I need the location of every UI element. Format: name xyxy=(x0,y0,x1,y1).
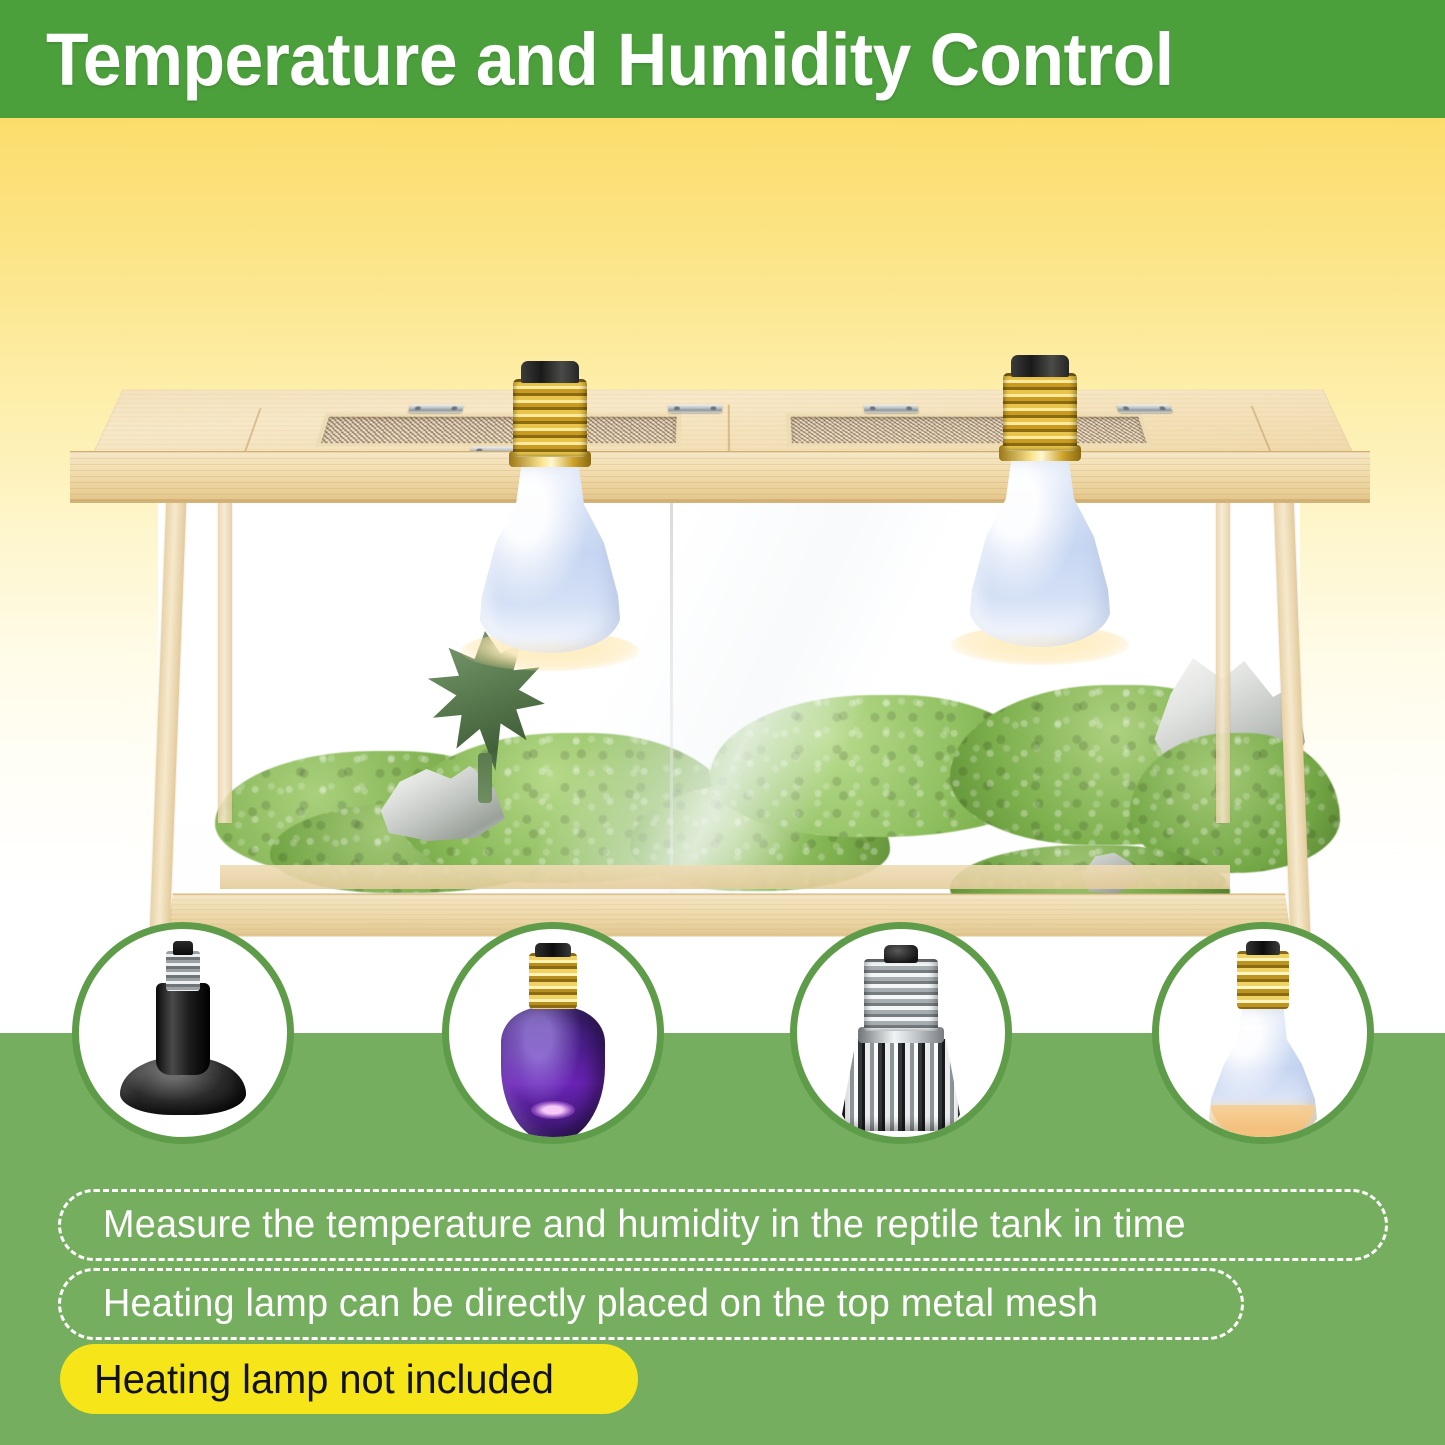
bulb-contact-cap xyxy=(521,361,579,383)
bulb-screw-base xyxy=(1003,373,1077,451)
notice-badge-lamp-not-included: Heating lamp not included xyxy=(60,1344,638,1414)
bulb-screw-base xyxy=(1237,951,1289,1009)
feature-callout-measure: Measure the temperature and humidity in … xyxy=(58,1189,1388,1261)
header-banner: Temperature and Humidity Control xyxy=(0,0,1445,118)
bulb-contact-cap xyxy=(1011,355,1069,377)
emitter-screw-base xyxy=(166,951,200,991)
bulb-warm-glow xyxy=(1211,1105,1315,1139)
bulb-screw-base xyxy=(864,959,938,1031)
wood-post-back-left xyxy=(218,483,232,823)
page-title: Temperature and Humidity Control xyxy=(46,17,1174,102)
lid-hinge xyxy=(1116,405,1172,413)
metal-mesh-vent-left xyxy=(315,413,682,446)
wood-lid-front-edge xyxy=(70,451,1370,503)
wood-base-rail-back xyxy=(220,865,1230,889)
emitter-body xyxy=(156,983,210,1075)
bulb-contact-cap xyxy=(535,943,571,957)
reptile-tank xyxy=(70,333,1370,1033)
lamp-badge-chrome-halogen xyxy=(790,922,1012,1144)
wood-base-rail xyxy=(167,894,1291,937)
notice-badge-text: Heating lamp not included xyxy=(94,1356,554,1403)
lamp-badge-ceramic-heat-emitter xyxy=(72,922,294,1144)
feature-callout-lamp-placement: Heating lamp can be directly placed on t… xyxy=(58,1268,1244,1340)
bulb-contact-cap xyxy=(1246,941,1280,955)
wood-post-back-right xyxy=(1216,483,1230,823)
lid-hinge xyxy=(668,405,722,413)
bulb-screw-base xyxy=(529,953,577,1009)
feature-callout-text: Heating lamp can be directly placed on t… xyxy=(103,1282,1098,1326)
lamp-badge-purple-night-bulb xyxy=(442,922,664,1144)
bulb-contact-tip xyxy=(884,945,918,963)
metal-mesh-vent-right xyxy=(786,413,1153,446)
bulb-filament-glow xyxy=(531,1101,575,1119)
lamp-badge-blue-daylight-bulb xyxy=(1152,922,1374,1144)
lid-hinge xyxy=(408,405,464,413)
lid-hinge xyxy=(864,405,919,413)
feature-callout-text: Measure the temperature and humidity in … xyxy=(103,1203,1186,1247)
purple-night-bulb-icon xyxy=(501,1007,605,1143)
bulb-screw-base xyxy=(513,379,587,457)
chrome-halogen-reflector-icon xyxy=(842,1039,960,1131)
infographic-page: Temperature and Humidity Control xyxy=(0,0,1445,1445)
emitter-contact-tip xyxy=(173,941,193,955)
product-scene xyxy=(0,118,1445,1033)
